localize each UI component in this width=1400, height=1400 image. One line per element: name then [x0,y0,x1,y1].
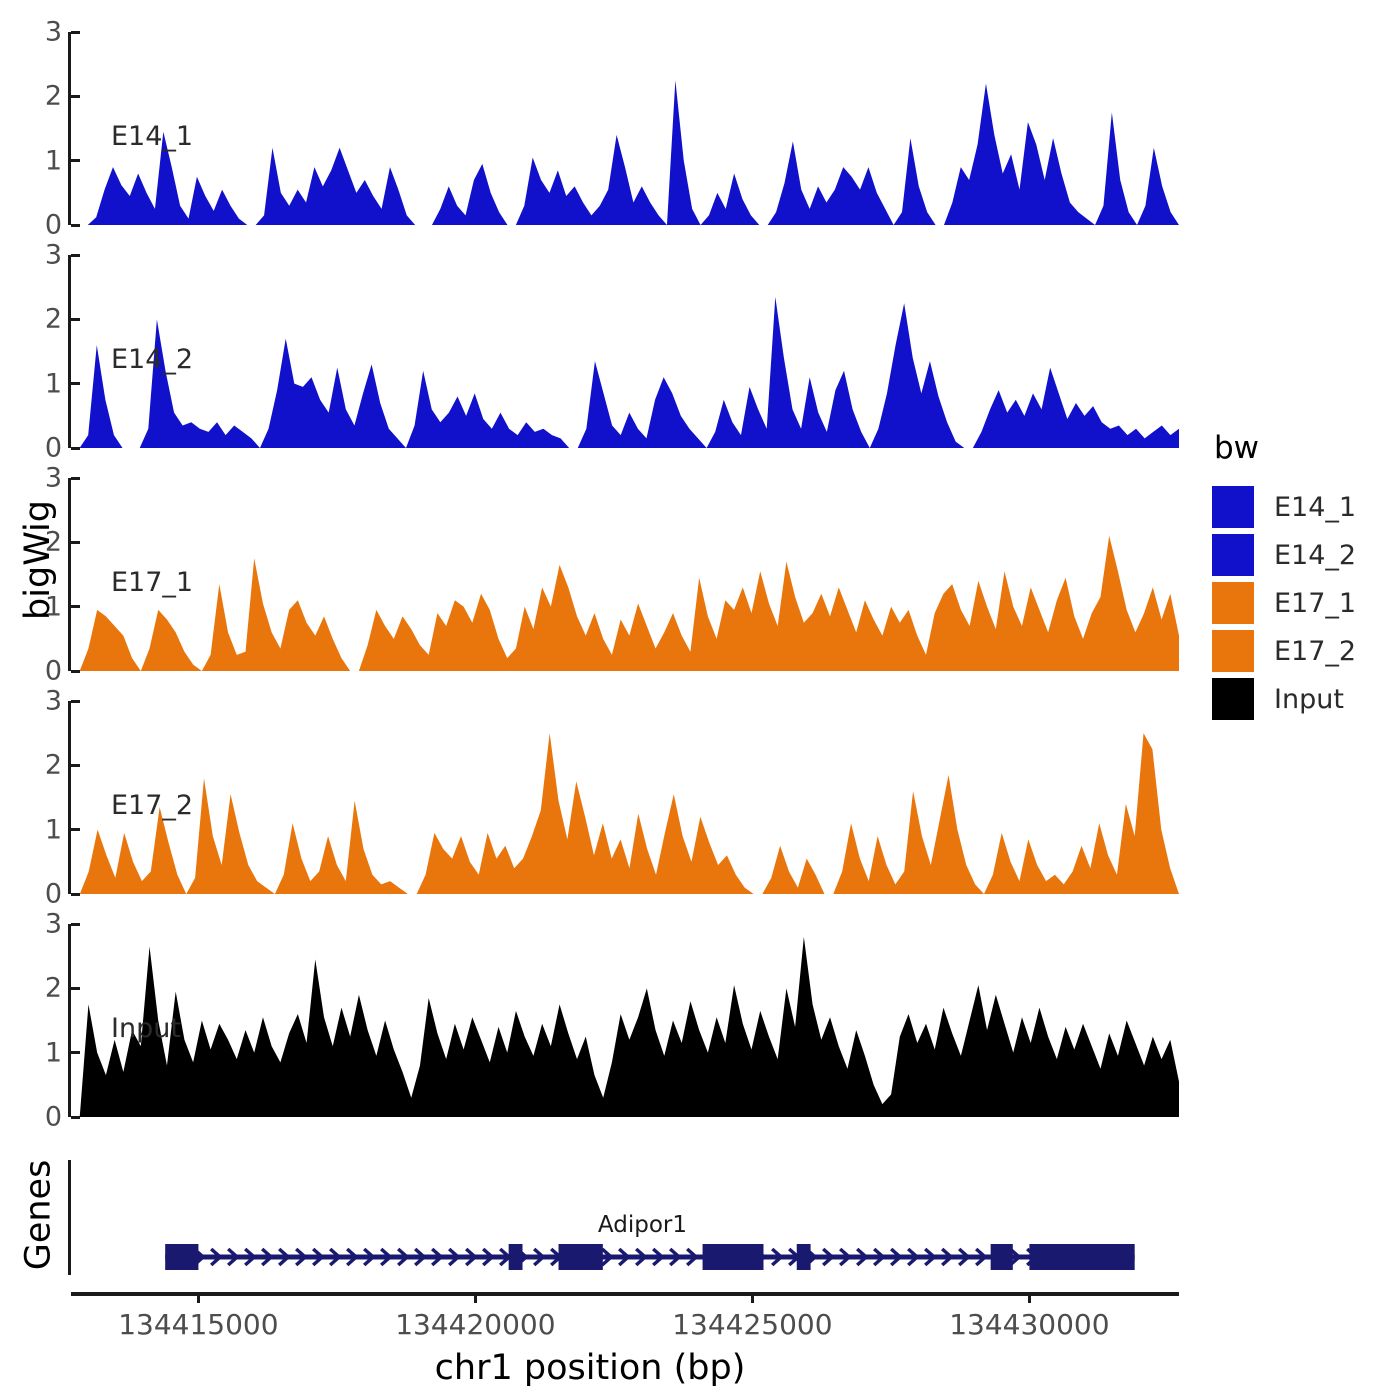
y-tick-label: 2 [2,527,62,558]
track-label-e14_2: E14_2 [111,344,193,375]
y-tick-label: 1 [2,368,62,399]
y-tick-label: 3 [2,909,62,940]
x-tick-label: 134420000 [395,1308,555,1341]
exon-box [703,1244,764,1270]
y-tick-label: 0 [2,879,62,910]
legend-swatch [1212,486,1254,528]
x-tick [197,1292,200,1303]
exon-box [991,1244,1013,1270]
y-tick-label: 0 [2,1102,62,1133]
y-tick-label: 0 [2,433,62,464]
legend-item-input[interactable]: Input [1212,676,1392,722]
legend-title: bw [1214,430,1392,466]
y-tick-label: 3 [2,240,62,271]
genes-axis-line [68,1160,71,1275]
coverage-area [71,733,1179,894]
x-tick-label: 134415000 [118,1308,278,1341]
track-label-input: Input [111,1013,181,1044]
legend-label: E14_2 [1274,540,1356,571]
x-axis-line [71,1292,1179,1296]
y-tick-label: 0 [2,656,62,687]
legend-rows: E14_1E14_2E17_1E17_2Input [1212,484,1392,722]
intron-line [165,1255,1135,1260]
gene-label: Adipor1 [598,1212,687,1238]
exon-box [559,1244,603,1270]
track-panel-e14_2: 0123E14_2 [68,255,1179,448]
exon-box [509,1244,523,1270]
genes-axis-title: Genes [8,1145,68,1285]
x-tick [474,1292,477,1303]
x-tick [751,1292,754,1303]
coverage-area [71,297,1179,448]
y-tick-label: 2 [2,973,62,1004]
y-tick-label: 1 [2,145,62,176]
track-plot-area [71,255,1179,448]
track-label-e17_2: E17_2 [111,790,193,821]
genes-axis-title-text: Genes [18,1160,58,1271]
legend-swatch [1212,582,1254,624]
track-panel-e14_1: 0123E14_1 [68,32,1179,225]
track-plot-area [71,924,1179,1117]
legend-swatch [1212,534,1254,576]
genes-track-panel: Adipor1 [68,1160,1178,1285]
legend: bw E14_1E14_2E17_1E17_2Input [1212,430,1392,724]
track-plot-area [71,701,1179,894]
coverage-area [71,937,1179,1117]
legend-item-e14_2[interactable]: E14_2 [1212,532,1392,578]
exon-box [165,1244,198,1270]
y-tick-label: 2 [2,750,62,781]
coverage-area [71,536,1179,671]
legend-label: E17_1 [1274,588,1356,619]
legend-item-e14_1[interactable]: E14_1 [1212,484,1392,530]
y-tick-label: 3 [2,686,62,717]
legend-item-e17_2[interactable]: E17_2 [1212,628,1392,674]
y-tick-label: 3 [2,17,62,48]
track-panel-input: 0123Input [68,924,1179,1117]
legend-swatch [1212,678,1254,720]
track-plot-area [71,32,1179,225]
x-tick-label: 134430000 [949,1308,1109,1341]
y-tick-label: 2 [2,304,62,335]
y-tick-label: 2 [2,81,62,112]
legend-label: E14_1 [1274,492,1356,523]
exon-box [1029,1244,1134,1270]
y-tick-label: 0 [2,210,62,241]
y-tick-label: 3 [2,463,62,494]
coverage-area [71,80,1179,225]
legend-swatch [1212,630,1254,672]
x-axis-title: chr1 position (bp) [0,1348,1180,1388]
track-label-e17_1: E17_1 [111,567,193,598]
x-tick-label: 134425000 [672,1308,832,1341]
x-tick [1028,1292,1031,1303]
legend-label: Input [1274,684,1344,715]
track-plot-area [71,478,1179,671]
track-label-e14_1: E14_1 [111,121,193,152]
y-tick-label: 1 [2,814,62,845]
exon-box [797,1244,811,1270]
track-panel-e17_2: 0123E17_2 [68,701,1179,894]
legend-item-e17_1[interactable]: E17_1 [1212,580,1392,626]
legend-label: E17_2 [1274,636,1356,667]
y-tick-label: 1 [2,591,62,622]
track-panel-e17_1: 0123E17_1 [68,478,1179,671]
y-tick-label: 1 [2,1037,62,1068]
